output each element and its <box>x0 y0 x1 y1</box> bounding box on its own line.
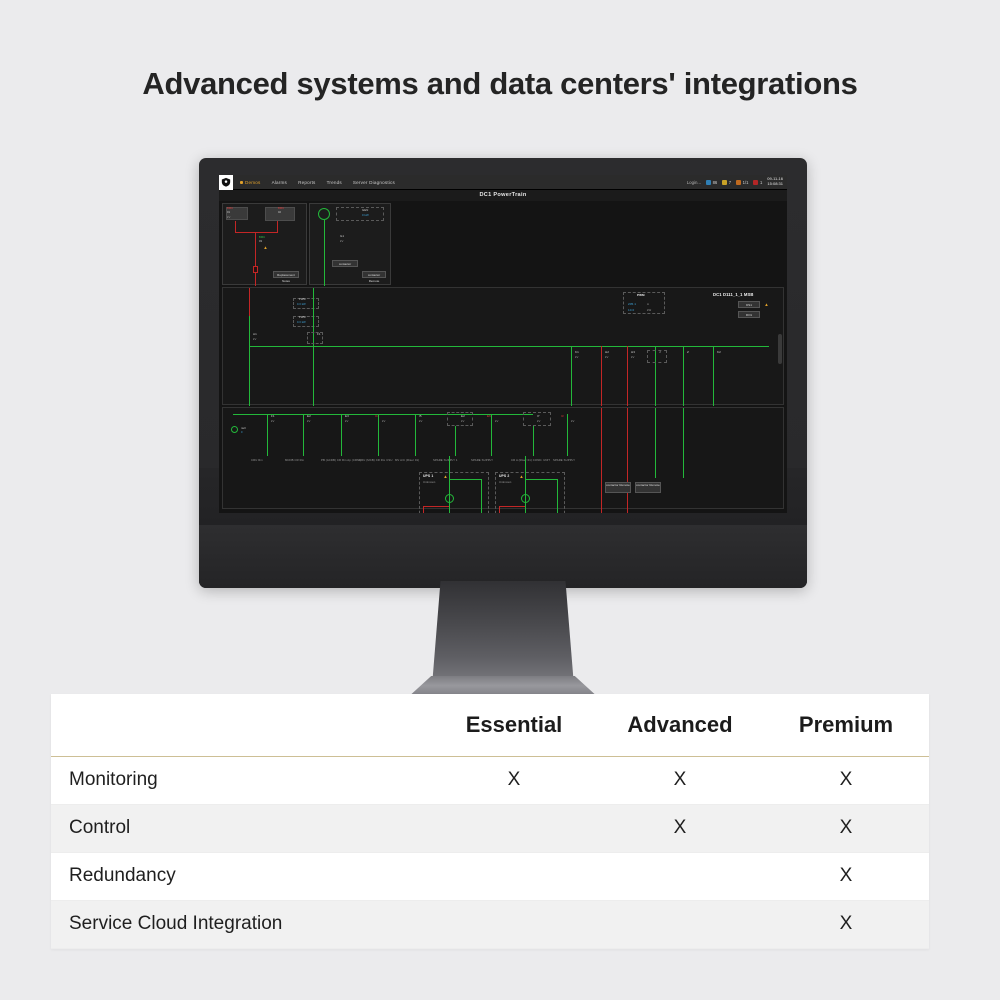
table-row: Monitoring X X X <box>51 756 929 804</box>
clock: 09-11-16 15:08:31 <box>767 177 783 186</box>
feeder-unit-8: kV <box>537 419 540 423</box>
bmu-sub-2: 02 <box>278 211 281 214</box>
pwm-1-label: PWM <box>299 298 306 301</box>
plan-comparison-table: Essential Advanced Premium Monitoring X … <box>51 694 929 949</box>
bus-breaker-a1-unit: kV <box>253 337 256 341</box>
menu-item-alarms[interactable]: Alarms <box>272 180 288 185</box>
feature-name: Redundancy <box>51 852 431 900</box>
status-info[interactable]: 86 <box>706 180 717 185</box>
bmu-label-2: BMU <box>278 207 284 210</box>
warning-triangle-icon: ▲ <box>519 474 524 479</box>
hmi-toolbar: Demos Alarms Reports Trends Server Diagn… <box>219 175 787 190</box>
cell-advanced <box>597 900 763 948</box>
monitor-stand-neck <box>432 581 574 686</box>
gen-label: GEN <box>362 208 368 212</box>
cell-premium: X <box>763 756 929 804</box>
feeder-breaker-6: E2 <box>461 414 465 418</box>
screen-title: DC1 PowerTrain <box>219 192 787 198</box>
warning-triangle-icon: ▲ <box>443 474 448 479</box>
feeder-load-6: SPARE SUPPLY 1 <box>433 458 458 462</box>
feeder-breaker-4: I4 <box>375 414 378 418</box>
bus-breaker-h2: H2 <box>605 350 609 354</box>
cell-advanced <box>597 852 763 900</box>
alarm-square-icon <box>753 180 758 185</box>
column-header-essential: Essential <box>431 694 597 756</box>
ack-square-icon <box>722 180 727 185</box>
feeder-unit-7: kV <box>495 419 498 423</box>
feeder-load-3: PB (ACDB) CR Rm Ap (CRNI) <box>321 458 361 462</box>
gen-readout-box[interactable] <box>336 207 384 221</box>
table-row: Control X X <box>51 804 929 852</box>
hmi-title-row: DC1 PowerTrain <box>219 190 787 201</box>
status-warning-count: 1/1 <box>743 180 749 185</box>
msb-label: DC1 D111_1_1 MSB <box>713 292 753 297</box>
replacement-notes-button[interactable]: Replacement Notes <box>273 271 299 278</box>
menu-item-demos[interactable]: Demos <box>240 180 261 185</box>
pwm-main-kw-value: 10.0 <box>628 308 634 312</box>
feature-name: Control <box>51 804 431 852</box>
cell-premium: X <box>763 852 929 900</box>
gen-replacement-button[interactable]: contactor Remote <box>362 271 386 278</box>
page-title: Advanced systems and data centers' integ… <box>0 0 1000 110</box>
pwm-main-a-label: A <box>647 302 649 306</box>
feeder-unit-6: kV <box>461 419 464 423</box>
cell-premium: X <box>763 804 929 852</box>
contactor-remote-button-2[interactable]: contactor Remote <box>635 482 661 493</box>
single-line-diagram: BMU 01 kV BMU 02 BMU 03 ▲ <box>219 201 787 513</box>
feature-name: Monitoring <box>51 756 431 804</box>
pwm-main-v-value: 205.1 <box>628 302 636 306</box>
pwm-main-kw-label: kW <box>647 308 651 312</box>
bus-breaker-h3: H3 <box>631 350 635 354</box>
table-header-row: Essential Advanced Premium <box>51 694 929 756</box>
gen-contactor-button[interactable]: contactor <box>332 260 358 267</box>
status-alarm-count: 1 <box>760 180 762 185</box>
feeder-unit-5: kV <box>419 419 422 423</box>
feeder-load-5: MV A/C (Riser 01) <box>395 458 419 462</box>
shield-logo-icon <box>219 175 233 190</box>
feature-name: Service Cloud Integration <box>51 900 431 948</box>
menu-item-server-diagnostics[interactable]: Server Diagnostics <box>353 180 395 185</box>
bmu-sub-1: 01 <box>227 211 230 214</box>
feeder-unit-2: kV <box>307 419 310 423</box>
cell-essential <box>431 900 597 948</box>
menu-item-reports[interactable]: Reports <box>298 180 316 185</box>
panel-bmu: BMU 01 kV BMU 02 BMU 03 ▲ <box>222 203 307 285</box>
bus-breaker-j: J <box>659 350 661 354</box>
cell-essential <box>431 804 597 852</box>
status-warning[interactable]: 1/1 <box>736 180 748 185</box>
menu-item-trends[interactable]: Trends <box>327 180 342 185</box>
table-row: Service Cloud Integration X <box>51 900 929 948</box>
msb-button-ro1[interactable]: RO1 <box>738 311 760 318</box>
feeder-breaker-8: I7 <box>537 414 540 418</box>
ups-1-label: UPS 1 <box>423 474 433 478</box>
column-header-premium: Premium <box>763 694 929 756</box>
bus-breaker-a1: A1 <box>253 332 257 336</box>
bmu-unit-1: kV <box>227 215 230 219</box>
bmu-label-3: BMU <box>259 236 265 239</box>
feeder-load-9: SPARE SUPPLY <box>553 458 575 462</box>
bmu-main-breaker[interactable] <box>253 266 258 273</box>
cell-essential <box>431 852 597 900</box>
bus-box-j[interactable] <box>647 350 667 363</box>
login-link[interactable]: Login... <box>687 180 701 185</box>
bus-breaker-z: Z <box>687 350 689 354</box>
info-square-icon <box>706 180 711 185</box>
generator-symbol-icon[interactable] <box>318 208 330 220</box>
ups-2-label: UPS 2 <box>499 474 509 478</box>
feeder-node-icon <box>231 426 238 433</box>
ups-1-state: Unknown <box>423 480 435 484</box>
status-ack[interactable]: 7 <box>722 180 731 185</box>
vertical-scrollbar[interactable] <box>778 334 782 364</box>
cell-advanced: X <box>597 804 763 852</box>
clock-time: 15:08:31 <box>767 181 783 186</box>
feeder-unit-1: kV <box>271 419 274 423</box>
column-header-advanced: Advanced <box>597 694 763 756</box>
monitor-body: Demos Alarms Reports Trends Server Diagn… <box>199 158 807 588</box>
panel-main-bus: PWM 0.0 kW PWM 0.0 kW A1 kV F1 <box>222 287 784 405</box>
bus-breaker-h3-unit: kV <box>631 355 634 359</box>
hmi-menu: Demos Alarms Reports Trends Server Diagn… <box>233 180 395 185</box>
pwm-1-value: 0.0 kW <box>297 303 306 306</box>
cell-advanced: X <box>597 756 763 804</box>
feeder-unit-9: kV <box>571 419 574 423</box>
feeder-breaker-9: I3 <box>561 414 564 418</box>
feeder-null-label: null <box>241 426 246 430</box>
status-ack-count: 7 <box>729 180 731 185</box>
cell-essential: X <box>431 756 597 804</box>
pwm-2-label: PWM <box>299 316 306 319</box>
menu-item-demos-label: Demos <box>245 180 261 185</box>
gen-value: 0 kW <box>362 213 369 217</box>
feeder-load-4: CRU (MCB) CR Rm CSU <box>359 458 392 462</box>
bmu-label-1: BMU <box>227 207 233 210</box>
cell-premium: X <box>763 900 929 948</box>
pwm-main-label: PWM <box>637 293 645 297</box>
feeder-load-2: MCDB CR Rm <box>285 458 304 462</box>
monitor-screen: Demos Alarms Reports Trends Server Diagn… <box>219 175 787 513</box>
ups-1-inverter-icon <box>445 494 454 503</box>
pwm-2-value: 0.0 kW <box>297 321 306 324</box>
warning-triangle-icon <box>736 180 741 185</box>
msb-button-ds1[interactable]: DS1 <box>738 301 760 308</box>
bus-breaker-k1: K1 <box>575 350 579 354</box>
bmu-sub-3: 03 <box>259 240 262 243</box>
contactor-remote-button-1[interactable]: contactor Remote <box>605 482 631 493</box>
status-info-count: 86 <box>713 180 718 185</box>
feeder-load-7: SPARE SUPPLY <box>471 458 493 462</box>
feeder-box-6[interactable] <box>447 412 473 426</box>
feeder-unit-4: kV <box>382 419 385 423</box>
warning-triangle-icon: ▲ <box>764 302 769 307</box>
bus-breaker-a2: F1 <box>317 332 321 336</box>
feeder-unit-3: kV <box>345 419 348 423</box>
feeder-load-8: CR A (Riser 01) COND. UNIT <box>511 458 550 462</box>
monitor-chin <box>199 525 807 588</box>
feeder-null-value: 0 <box>241 431 243 434</box>
ups-2-inverter-icon <box>521 494 530 503</box>
hmi-status-area: Login... 86 7 1/1 <box>687 177 787 186</box>
feeder-breaker-2: E2 <box>307 414 311 418</box>
feeder-breaker-3: E3 <box>345 414 349 418</box>
column-header-feature <box>51 694 431 756</box>
feeder-load-1: CRU Rm <box>251 458 263 462</box>
feeder-breaker-7: E6 <box>487 414 491 418</box>
gen-breaker-label: G1 <box>340 234 344 238</box>
warning-triangle-icon: ▲ <box>263 245 268 250</box>
panel-feeders: null 0 F1 kV CRU Rm E2 kV MCDB CR Rm E3 … <box>222 407 784 509</box>
ups-2-state: Unknown <box>499 480 511 484</box>
gen-breaker-unit: kV <box>340 239 343 243</box>
feeder-breaker-5: I5 <box>419 414 422 418</box>
panel-generator: GEN 0 kW G1 kV contactor contactor Remot… <box>309 203 391 285</box>
bus-breaker-k1-unit: kV <box>575 355 578 359</box>
hmi-application: Demos Alarms Reports Trends Server Diagn… <box>219 175 787 513</box>
bus-breaker-k2: K2 <box>717 350 721 354</box>
bus-breaker-h2-unit: kV <box>605 355 608 359</box>
demos-indicator-icon <box>240 181 243 184</box>
table-row: Redundancy X <box>51 852 929 900</box>
feeder-breaker-1: F1 <box>271 414 275 418</box>
monitor-illustration: Demos Alarms Reports Trends Server Diagn… <box>0 110 1000 670</box>
status-alarm[interactable]: 1 <box>753 180 762 185</box>
